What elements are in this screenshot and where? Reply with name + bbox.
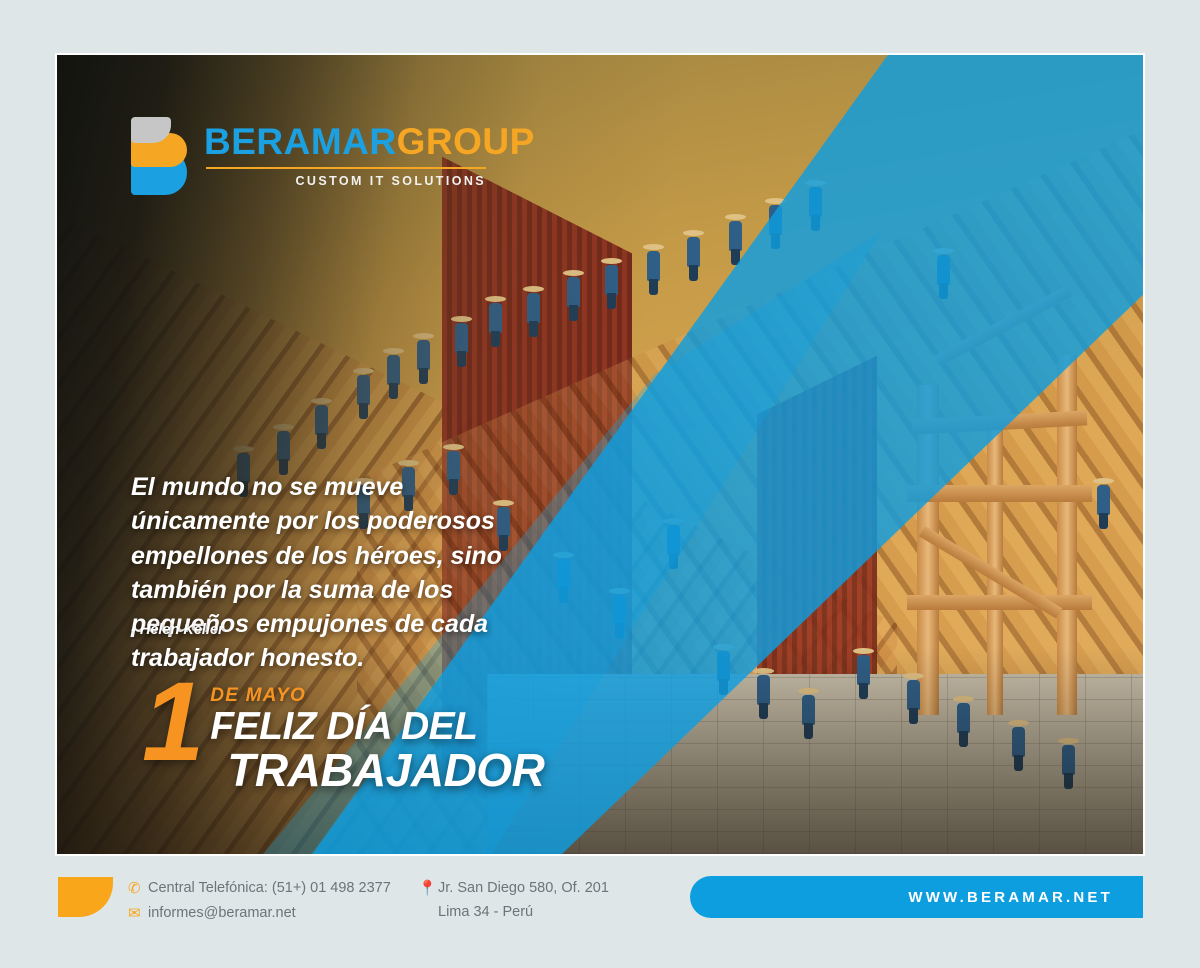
orange-accent-shape	[58, 877, 113, 917]
logo-word-row: BERAMARGROUP	[204, 123, 535, 160]
website-url: WWW.BERAMAR.NET	[908, 889, 1113, 906]
logo-wordmark: BERAMARGROUP CUSTOM IT SOLUTIONS	[204, 117, 535, 188]
email-row[interactable]: ✉ informes@beramar.net	[128, 904, 391, 922]
contact-column-address: 📍 Jr. San Diego 580, Of. 201 Lima 34 - P…	[418, 879, 609, 920]
location-pin-icon: 📍	[418, 879, 438, 897]
headline-text-group: DE MAYO FELIZ DÍA DEL TRABAJADOR	[210, 676, 544, 794]
headline-month: DE MAYO	[210, 685, 544, 707]
headline-line1: FELIZ DÍA DEL	[210, 707, 544, 747]
address-row: 📍 Jr. San Diego 580, Of. 201	[418, 879, 609, 897]
headline-day-number: 1	[142, 676, 200, 768]
phone-icon: ✆	[128, 879, 148, 897]
address-line-2: Lima 34 - Perú	[438, 904, 609, 920]
phone-row[interactable]: ✆ Central Telefónica: (51+) 01 498 2377	[128, 879, 391, 897]
brand-logo[interactable]: BERAMARGROUP CUSTOM IT SOLUTIONS	[131, 117, 535, 195]
phone-number: Central Telefónica: (51+) 01 498 2377	[148, 880, 391, 896]
quote-author: - Helen Keller	[131, 622, 224, 638]
website-banner[interactable]: WWW.BERAMAR.NET	[690, 876, 1143, 918]
email-address: informes@beramar.net	[148, 905, 296, 921]
headline-block: 1 DE MAYO FELIZ DÍA DEL TRABAJADOR	[142, 676, 544, 794]
quote-text: El mundo no se mueve únicamente por los …	[131, 470, 531, 676]
logo-word-beramar: BERAMAR	[204, 121, 397, 162]
footer: ✆ Central Telefónica: (51+) 01 498 2377 …	[0, 856, 1200, 968]
address-line-1: Jr. San Diego 580, Of. 201	[438, 880, 609, 896]
poster: BERAMARGROUP CUSTOM IT SOLUTIONS El mund…	[0, 0, 1200, 968]
logo-tagline: CUSTOM IT SOLUTIONS	[204, 174, 486, 188]
contact-column-phone: ✆ Central Telefónica: (51+) 01 498 2377 …	[128, 879, 391, 929]
headline-line2: TRABAJADOR	[227, 747, 544, 794]
envelope-icon: ✉	[128, 904, 148, 922]
logo-divider	[206, 167, 486, 169]
beramar-b-mark-icon	[131, 117, 187, 195]
logo-word-group: GROUP	[397, 121, 535, 162]
